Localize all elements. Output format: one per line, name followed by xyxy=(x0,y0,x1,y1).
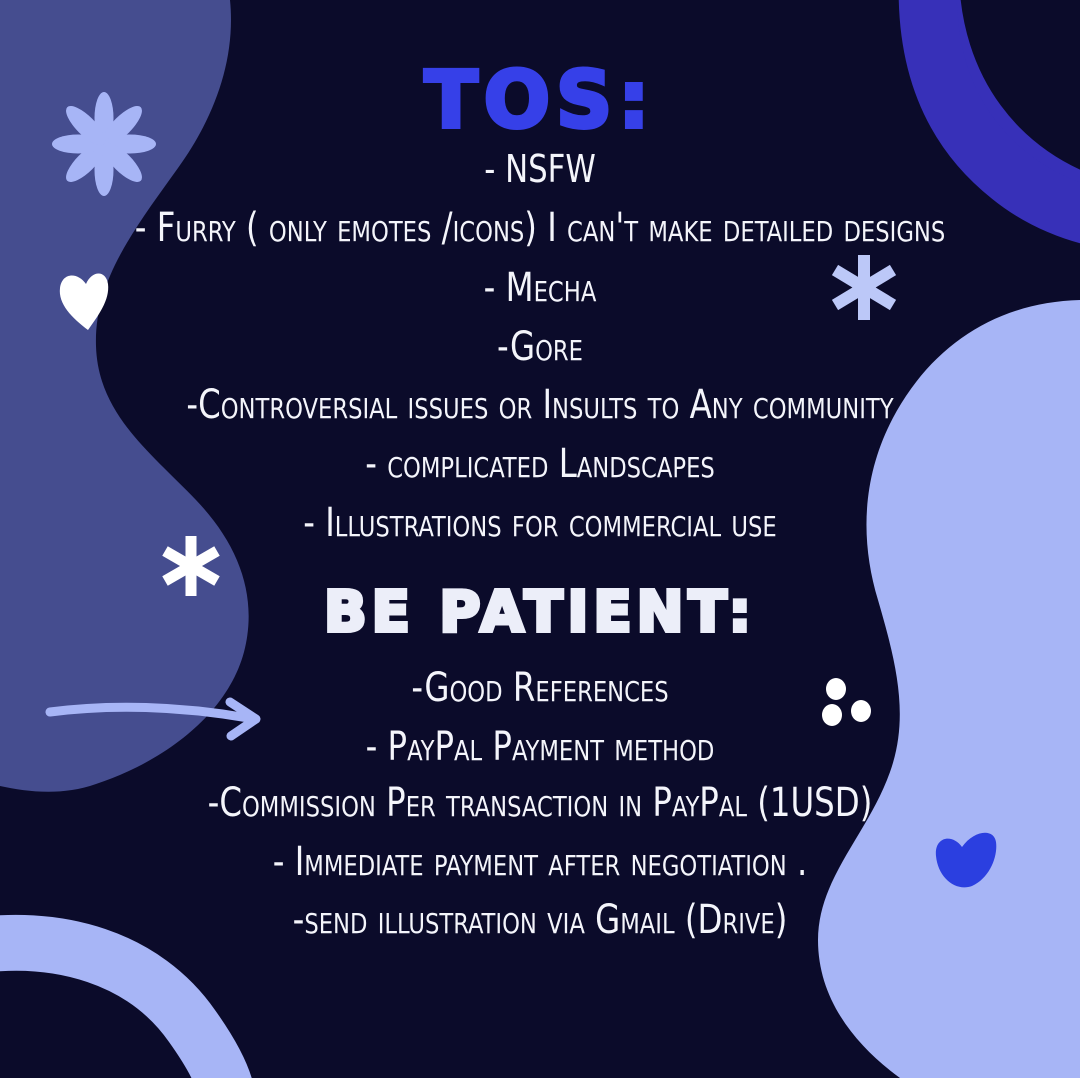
background-decoration-layer xyxy=(0,0,1080,1078)
tos-poster: TOS: - NSFW - Furry ( only emotes /icons… xyxy=(0,0,1080,1078)
flower-icon xyxy=(52,92,156,196)
